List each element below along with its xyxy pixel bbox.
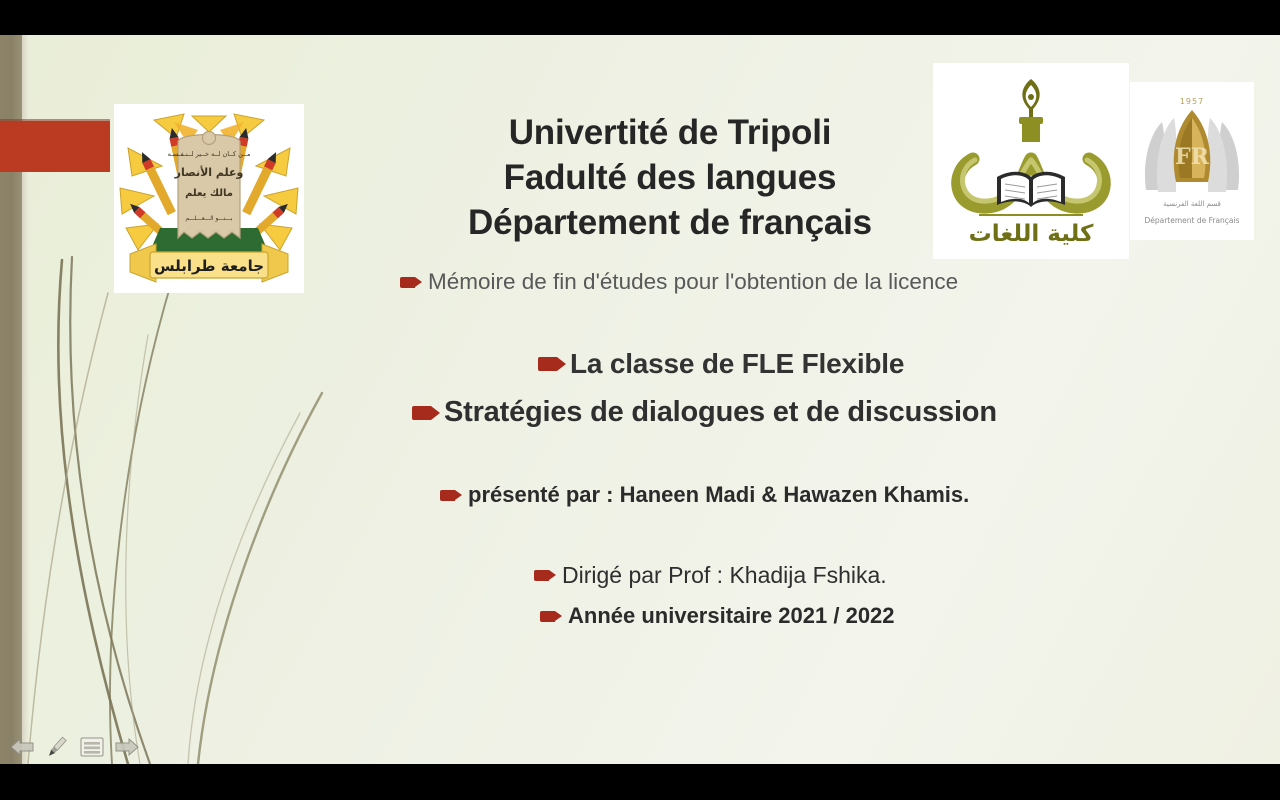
bullet-row-annee: Année universitaire 2021 / 2022 [540, 603, 895, 629]
next-slide-button[interactable] [113, 734, 141, 760]
faculty-of-languages-logo: كلية اللغات [933, 63, 1129, 259]
svg-text:FR: FR [1175, 144, 1210, 170]
svg-text:جامعة طرابلس: جامعة طرابلس [154, 257, 264, 275]
department-of-french-logo: 1957 FR قسم اللغة الفرنسية Département d… [1130, 82, 1254, 240]
title-line-1: Univertité de Tripoli [330, 110, 1010, 155]
bullet-row-classe: La classe de FLE Flexible [538, 348, 904, 380]
bullet-flag-icon [412, 406, 431, 420]
pen-tool-button[interactable] [43, 734, 71, 760]
bullet-flag-icon [534, 570, 549, 581]
svg-text:1957: 1957 [1180, 97, 1204, 106]
university-of-tripoli-logo: مــن كــان لــه خــير لــنـفـسـه وعلم ال… [114, 104, 304, 293]
bullet-row-strategies: Stratégies de dialogues et de discussion [412, 396, 997, 429]
presentation-viewport: مــن كــان لــه خــير لــنـفـسـه وعلم ال… [0, 0, 1280, 800]
previous-slide-button[interactable] [8, 734, 36, 760]
bullet-text-annee: Année universitaire 2021 / 2022 [568, 603, 895, 629]
svg-text:وعلم الأنصار: وعلم الأنصار [174, 165, 244, 179]
bullet-flag-icon [540, 611, 555, 622]
svg-text:قسم اللغة الفرنسية: قسم اللغة الفرنسية [1163, 200, 1221, 208]
svg-text:مــن كــان لــه خــير لــنـفـس: مــن كــان لــه خــير لــنـفـسـه [168, 150, 251, 158]
title-line-2: Fadulté des langues [330, 155, 1010, 200]
bullet-flag-icon [440, 490, 455, 501]
bullet-text-classe: La classe de FLE Flexible [570, 348, 904, 380]
svg-text:كلية اللغات: كلية اللغات [969, 221, 1094, 247]
letterbox-top [0, 0, 1280, 35]
bullet-row-dirige: Dirigé par Prof : Khadija Fshika. [534, 562, 887, 589]
bullet-text-memoire: Mémoire de fin d'études pour l'obtention… [428, 269, 958, 295]
arrow-left-icon [8, 734, 36, 760]
arrow-right-icon [113, 734, 141, 760]
slide-title: Univertité de Tripoli Fadulté des langue… [330, 110, 1010, 245]
slide-canvas[interactable]: مــن كــان لــه خــير لــنـفـسـه وعلم ال… [0, 35, 1280, 764]
bullet-text-dirige: Dirigé par Prof : Khadija Fshika. [562, 562, 887, 589]
bullet-row-presente: présenté par : Haneen Madi & Hawazen Kha… [440, 482, 969, 508]
title-line-3: Département de français [330, 200, 1010, 245]
bullet-text-strategies: Stratégies de dialogues et de discussion [444, 396, 997, 429]
slide-menu-button[interactable] [78, 734, 106, 760]
svg-text:بـــنـــو الـــعـــلـــم: بـــنـــو الـــعـــلـــم [185, 215, 233, 222]
red-accent-band [0, 121, 110, 172]
bullet-flag-icon [538, 357, 557, 371]
slide-menu-icon [78, 734, 106, 760]
svg-text:Département de Français: Département de Français [1144, 216, 1239, 225]
slideshow-navigation-controls[interactable] [8, 734, 141, 760]
letterbox-bottom [0, 764, 1280, 800]
svg-text:مالك يعلم: مالك يعلم [185, 188, 233, 199]
pen-icon [43, 734, 71, 760]
bullet-flag-icon [400, 277, 415, 288]
bullet-row-memoire: Mémoire de fin d'études pour l'obtention… [400, 269, 958, 295]
bullet-text-presente: présenté par : Haneen Madi & Hawazen Kha… [468, 482, 969, 508]
